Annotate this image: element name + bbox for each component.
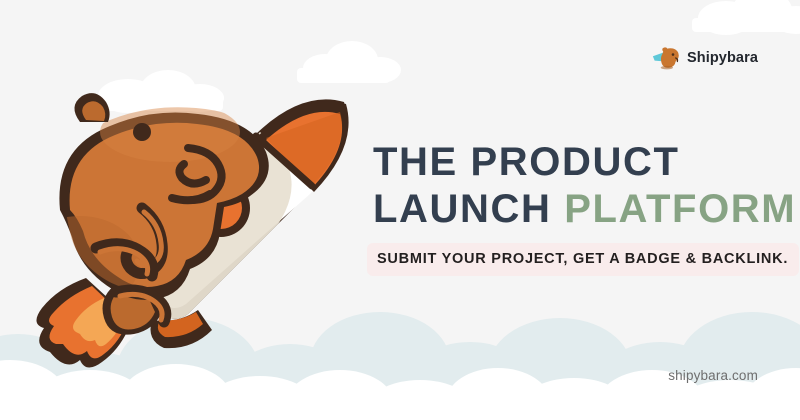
capybara-paperplane-icon <box>652 44 680 72</box>
capybara-rocket-illustration <box>20 52 360 382</box>
headline-line-2: LAUNCH PLATFORM <box>373 188 773 231</box>
footer-url[interactable]: shipybara.com <box>668 369 758 383</box>
headline-line-1: THE PRODUCT <box>373 141 773 184</box>
headline-block: THE PRODUCT LAUNCH PLATFORM <box>373 141 773 231</box>
subtitle-text: SUBMIT YOUR PROJECT, GET A BADGE & BACKL… <box>377 251 788 267</box>
promo-banner: Shipybara THE PRODUCT LAUNCH PLATFORM SU… <box>0 0 800 420</box>
capybara-eye <box>133 123 151 141</box>
headline-platform: PLATFORM <box>564 187 796 231</box>
cloud-top-right <box>692 0 800 35</box>
subtitle-highlight: SUBMIT YOUR PROJECT, GET A BADGE & BACKL… <box>367 243 799 276</box>
brand-logo[interactable]: Shipybara <box>652 44 758 72</box>
headline-launch: LAUNCH <box>373 187 551 231</box>
brand-name: Shipybara <box>687 51 758 66</box>
